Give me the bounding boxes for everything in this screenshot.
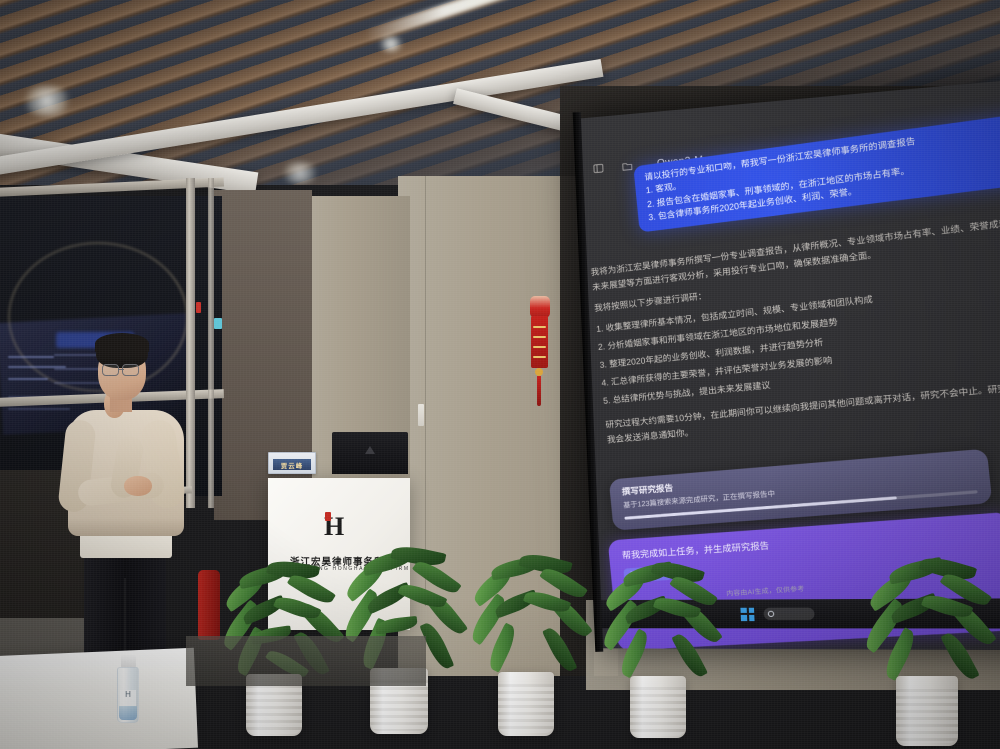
presenter-glasses-left-lens: [102, 364, 119, 376]
sidebar-toggle-icon[interactable]: [593, 163, 604, 175]
downlight-1: [20, 86, 74, 116]
bottle-label-letter: H: [125, 690, 131, 699]
potted-plant: [466, 548, 596, 749]
plant-pot: [896, 676, 958, 746]
ornament-gold-line: [533, 356, 546, 358]
plant-leaf: [671, 630, 708, 680]
presenter-glasses-right-lens: [122, 364, 139, 376]
search-icon: [768, 611, 775, 617]
ornament-gold-line: [533, 326, 546, 328]
glass-reflection-textline: [8, 408, 70, 410]
plant-pot: [498, 672, 554, 736]
ornament-tassel: [537, 376, 541, 406]
plant-pot: [630, 676, 686, 738]
bottle-body: H: [117, 667, 139, 723]
potted-plant: [858, 554, 998, 749]
glass-reflection-textline: [8, 356, 54, 358]
chinese-red-hanging-ornament: [528, 296, 558, 426]
presenter-other-hand: [124, 476, 152, 496]
downlight-2: [280, 162, 320, 184]
bottle-label: H: [120, 690, 136, 706]
ornament-gold-line: [533, 336, 546, 338]
water-bottle: H: [116, 655, 146, 749]
laptop-brand-logo-icon: [365, 446, 375, 454]
presenter-glasses-bridge: [119, 369, 124, 370]
ornament-knot: [535, 368, 543, 376]
nameplate-text: 贾云峰: [281, 460, 304, 470]
ornament-gold-line: [533, 346, 546, 348]
windows-logo-icon[interactable]: [741, 607, 755, 620]
glass-reflection-textline: [8, 378, 48, 380]
bottle-label-blue-band: [119, 706, 137, 720]
new-chat-icon[interactable]: [622, 160, 633, 172]
nameplate: 贾云峰: [268, 452, 316, 474]
laptop[interactable]: [332, 432, 408, 474]
photo-scene: Qwen3-Max ⌄ 请以投行的专业和口吻，帮我写一份浙江宏昊律师事务所的调查…: [0, 0, 1000, 749]
ornament-body: [531, 316, 548, 368]
firm-logo-red-accent: [325, 512, 331, 521]
ornament-head: [530, 296, 550, 318]
downlight-3: [378, 36, 404, 52]
presenter-hair-top: [95, 333, 149, 355]
light-switch-plate[interactable]: [418, 404, 424, 426]
nameplate-band: 贾云峰: [273, 459, 311, 470]
plant-leaf: [542, 625, 577, 675]
potted-plant: [596, 556, 726, 749]
assistant-message: 我将为浙江宏昊律师事务所撰写一份专业调查报告，从律所概况、专业领域市场占有率、业…: [590, 213, 1000, 454]
sweater-ribbed-hem: [68, 518, 184, 536]
foreground-table: [0, 648, 198, 749]
wall-sticker-red: [196, 302, 201, 313]
taskbar-search-box[interactable]: [764, 608, 815, 621]
floor-back: [186, 636, 426, 686]
user-message-bubble: 请以投行的专业和口吻，帮我写一份浙江宏昊律师事务所的调查报告 1. 客观。 2.…: [633, 113, 1000, 233]
